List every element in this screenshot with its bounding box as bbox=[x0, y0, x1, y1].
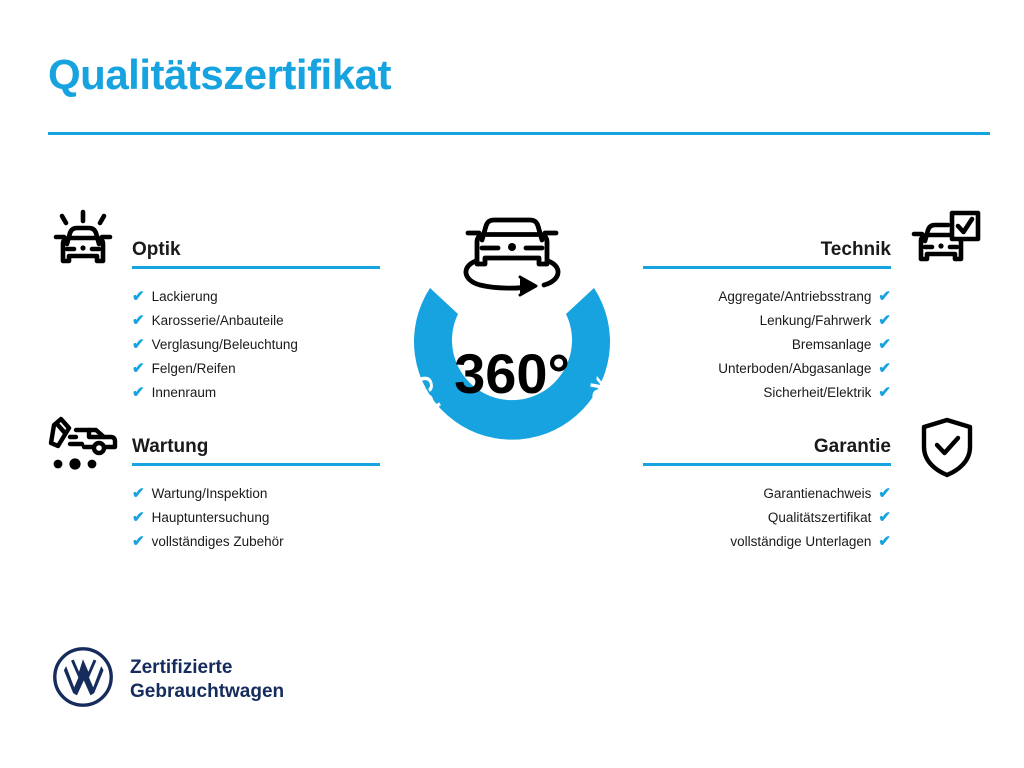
list-item: ✔Felgen/Reifen bbox=[132, 357, 380, 381]
list-item: ✔Karosserie/Anbauteile bbox=[132, 309, 380, 333]
lockup-line-1: Zertifizierte bbox=[130, 656, 284, 680]
checklist-optik: ✔Lackierung ✔Karosserie/Anbauteile ✔Verg… bbox=[132, 285, 380, 405]
list-item-label: Lackierung bbox=[152, 285, 218, 309]
section-title-optik: Optik bbox=[132, 238, 380, 262]
section-wartung: Wartung ✔Wartung/Inspektion ✔Hauptunters… bbox=[132, 435, 380, 554]
pencil-car-service-icon bbox=[48, 416, 118, 483]
section-divider-wartung bbox=[132, 463, 380, 466]
vw-certified-lockup: Zertifizierte Gebrauchtwagen bbox=[52, 646, 284, 713]
shield-check-icon bbox=[918, 416, 976, 483]
list-item: ✔Lackierung bbox=[132, 285, 380, 309]
section-optik: Optik ✔Lackierung ✔Karosserie/Anbauteile… bbox=[132, 238, 380, 405]
lockup-line-2: Gebrauchtwagen bbox=[130, 680, 284, 704]
list-item-label: Aggregate/Antriebsstrang bbox=[718, 285, 871, 309]
badge-center-label: 360° bbox=[454, 342, 570, 405]
checklist-technik: Aggregate/Antriebsstrang✔ Lenkung/Fahrwe… bbox=[643, 285, 891, 405]
list-item: ✔Innenraum bbox=[132, 381, 380, 405]
section-divider-garantie bbox=[643, 463, 891, 466]
section-title-garantie: Garantie bbox=[643, 435, 891, 459]
check-icon: ✔ bbox=[132, 285, 145, 309]
section-header-technik: Technik bbox=[643, 238, 891, 272]
section-header-garantie: Garantie bbox=[643, 435, 891, 469]
list-item: Qualitätszertifikat✔ bbox=[643, 506, 891, 530]
list-item: Lenkung/Fahrwerk✔ bbox=[643, 309, 891, 333]
check-icon: ✔ bbox=[132, 357, 145, 381]
list-item: Unterboden/Abgasanlage✔ bbox=[643, 357, 891, 381]
list-item-label: Sicherheit/Elektrik bbox=[763, 381, 871, 405]
section-header-wartung: Wartung bbox=[132, 435, 380, 469]
list-item: Sicherheit/Elektrik✔ bbox=[643, 381, 891, 405]
list-item-label: Garantienachweis bbox=[763, 482, 871, 506]
list-item: Garantienachweis✔ bbox=[643, 482, 891, 506]
list-item-label: vollständige Unterlagen bbox=[730, 530, 871, 554]
check-icon: ✔ bbox=[878, 482, 891, 506]
badge-360-gebrauchtwagen-check: Gebrauchtwagen-Check 360° bbox=[370, 196, 654, 486]
list-item-label: Unterboden/Abgasanlage bbox=[718, 357, 871, 381]
list-item: Aggregate/Antriebsstrang✔ bbox=[643, 285, 891, 309]
list-item-label: vollständiges Zubehör bbox=[152, 530, 284, 554]
section-garantie: Garantie Garantienachweis✔ Qualitätszert… bbox=[643, 435, 891, 554]
list-item-label: Qualitätszertifikat bbox=[768, 506, 872, 530]
check-icon: ✔ bbox=[878, 357, 891, 381]
check-icon: ✔ bbox=[132, 530, 145, 554]
check-icon: ✔ bbox=[132, 506, 145, 530]
check-icon: ✔ bbox=[878, 530, 891, 554]
check-icon: ✔ bbox=[132, 482, 145, 506]
list-item-label: Innenraum bbox=[152, 381, 217, 405]
lockup-text: Zertifizierte Gebrauchtwagen bbox=[130, 656, 284, 704]
list-item-label: Karosserie/Anbauteile bbox=[152, 309, 284, 333]
check-icon: ✔ bbox=[878, 381, 891, 405]
section-divider-optik bbox=[132, 266, 380, 269]
checklist-wartung: ✔Wartung/Inspektion ✔Hauptuntersuchung ✔… bbox=[132, 482, 380, 554]
check-icon: ✔ bbox=[132, 381, 145, 405]
check-icon: ✔ bbox=[878, 333, 891, 357]
list-item-label: Hauptuntersuchung bbox=[152, 506, 270, 530]
car-front-shine-icon bbox=[48, 206, 118, 277]
section-title-technik: Technik bbox=[643, 238, 891, 262]
check-icon: ✔ bbox=[878, 506, 891, 530]
list-item: ✔Verglasung/Beleuchtung bbox=[132, 333, 380, 357]
list-item: ✔Wartung/Inspektion bbox=[132, 482, 380, 506]
section-divider-technik bbox=[643, 266, 891, 269]
section-title-wartung: Wartung bbox=[132, 435, 380, 459]
list-item-label: Verglasung/Beleuchtung bbox=[152, 333, 298, 357]
list-item: ✔vollständiges Zubehör bbox=[132, 530, 380, 554]
page-title: Qualitätszertifikat bbox=[48, 52, 391, 98]
check-icon: ✔ bbox=[132, 333, 145, 357]
vw-logo-icon bbox=[52, 646, 114, 713]
list-item-label: Lenkung/Fahrwerk bbox=[760, 309, 872, 333]
check-icon: ✔ bbox=[132, 309, 145, 333]
list-item: ✔Hauptuntersuchung bbox=[132, 506, 380, 530]
section-technik: Technik Aggregate/Antriebsstrang✔ Lenkun… bbox=[643, 238, 891, 405]
header-divider bbox=[48, 132, 990, 135]
check-icon: ✔ bbox=[878, 285, 891, 309]
car-rotate-icon bbox=[466, 220, 558, 295]
checklist-garantie: Garantienachweis✔ Qualitätszertifikat✔ v… bbox=[643, 482, 891, 554]
list-item: Bremsanlage✔ bbox=[643, 333, 891, 357]
list-item: vollständige Unterlagen✔ bbox=[643, 530, 891, 554]
list-item-label: Felgen/Reifen bbox=[152, 357, 236, 381]
section-header-optik: Optik bbox=[132, 238, 380, 272]
list-item-label: Bremsanlage bbox=[792, 333, 872, 357]
list-item-label: Wartung/Inspektion bbox=[152, 482, 268, 506]
check-icon: ✔ bbox=[878, 309, 891, 333]
car-front-checkbox-icon bbox=[908, 210, 982, 277]
